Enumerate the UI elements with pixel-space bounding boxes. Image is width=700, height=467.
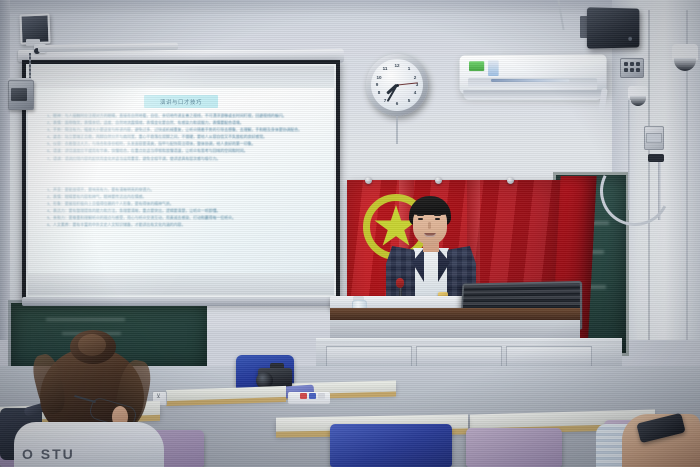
- hair-bun-highlight: [78, 334, 106, 356]
- chair-blue: [330, 424, 452, 467]
- meter-display: [646, 133, 662, 143]
- screen-sheen: [28, 66, 334, 295]
- eye-left: [418, 218, 423, 220]
- control-box-display: [11, 88, 27, 101]
- clock-numeral: 10: [375, 74, 383, 82]
- speaker-tweeter: [628, 37, 632, 41]
- clock-numeral: 5: [405, 97, 413, 105]
- flag-pin: [435, 177, 442, 184]
- clock-numeral: 12: [393, 62, 401, 70]
- clock-numeral: 6: [393, 100, 401, 108]
- wall-control-panel[interactable]: [620, 58, 644, 78]
- lectern-front: [330, 320, 580, 340]
- ac-brand-label: [488, 60, 499, 76]
- hair-fringe: [410, 202, 450, 215]
- clock-center-pin: [396, 84, 399, 87]
- analog-wall-clock: 12 1 2 3 4 5 6 7 8 9 10 11: [366, 54, 428, 116]
- cable: [29, 53, 31, 81]
- eyebrow-right: [434, 214, 441, 216]
- ac-energy-label: [469, 61, 484, 71]
- clock-face: 12 1 2 3 4 5 6 7 8 9 10 11: [371, 59, 423, 111]
- clock-cable: [396, 116, 398, 144]
- clock-numeral: 9: [373, 81, 381, 89]
- foreground-student: O STU: [14, 330, 164, 467]
- projection-screen-weight-bar: [22, 297, 340, 306]
- flag-pin: [365, 177, 372, 184]
- ac-underside: [463, 90, 602, 100]
- clock-numeral: 11: [381, 65, 389, 73]
- chair-lilac: [466, 428, 562, 467]
- classroom-photo: 演讲与口才技巧 1、眼神：与人接触时应注视对方的眼睛，直接而自然地看，自信、亲切…: [0, 0, 700, 467]
- eyebrow-left: [417, 214, 424, 216]
- microphone-head: [396, 278, 404, 288]
- tray-item: [318, 393, 325, 399]
- presentation-slide: 演讲与口才技巧 1、眼神：与人接触时应注视对方的眼睛，直接而自然地看，自信、亲切…: [28, 66, 334, 295]
- nose: [428, 222, 431, 229]
- flag-pin: [507, 177, 514, 184]
- tray-item: [309, 393, 316, 399]
- tray-item: [300, 393, 307, 399]
- clock-numeral: 8: [375, 89, 383, 97]
- clock-numeral: 1: [405, 65, 413, 73]
- eye-right: [435, 218, 440, 220]
- clock-numeral: 4: [411, 89, 419, 97]
- shirt-print-text: O STU: [22, 446, 75, 462]
- wall-left-edge: [0, 0, 10, 340]
- desk-rail: [316, 338, 622, 343]
- wall-speaker-right: [587, 7, 639, 48]
